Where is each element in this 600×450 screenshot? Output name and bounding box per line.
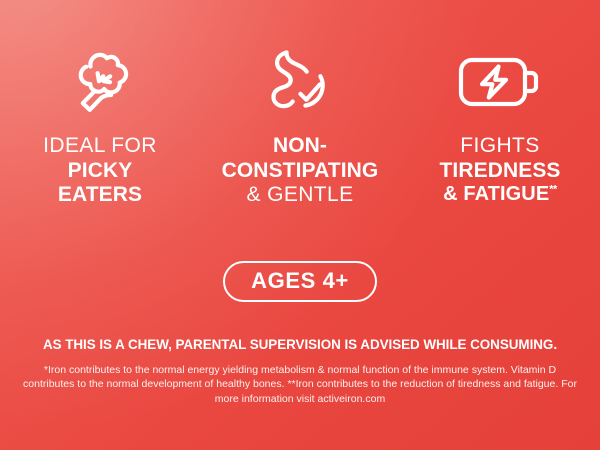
footer: AS THIS IS A CHEW, PARENTAL SUPERVISION …	[0, 336, 600, 407]
promo-banner: IDEAL FOR PICKY EATERS NON- CONSTIPATING…	[0, 0, 600, 450]
benefit-label-line: IDEAL FOR	[43, 134, 157, 159]
benefit-label: IDEAL FOR PICKY EATERS	[43, 134, 157, 208]
benefit-label-line-with-footnote: & FATIGUE**	[439, 183, 560, 206]
broccoli-icon	[68, 44, 132, 120]
battery-bolt-icon	[456, 44, 544, 120]
benefit-non-constipating: NON- CONSTIPATING & GENTLE	[200, 44, 400, 208]
benefit-label-line: TIREDNESS	[439, 159, 560, 184]
benefit-picky-eaters: IDEAL FOR PICKY EATERS	[0, 44, 200, 208]
supervision-notice: AS THIS IS A CHEW, PARENTAL SUPERVISION …	[12, 336, 588, 354]
ages-badge-container: AGES 4+	[0, 261, 600, 302]
benefit-label: FIGHTS TIREDNESS & FATIGUE**	[439, 134, 560, 207]
benefit-fights-tiredness: FIGHTS TIREDNESS & FATIGUE**	[400, 44, 600, 207]
ages-badge: AGES 4+	[223, 261, 377, 302]
benefit-label-line: & FATIGUE	[443, 183, 549, 205]
benefit-label-line: & GENTLE	[222, 183, 379, 208]
benefit-label-line: FIGHTS	[439, 134, 560, 159]
benefit-label-line: NON-	[222, 134, 379, 159]
benefit-label-line: CONSTIPATING	[222, 159, 379, 184]
footnote-marker: **	[549, 183, 557, 195]
benefit-label: NON- CONSTIPATING & GENTLE	[222, 134, 379, 208]
stomach-check-icon	[265, 44, 335, 120]
benefit-label-line: PICKY	[43, 159, 157, 184]
benefit-label-line: EATERS	[43, 183, 157, 208]
benefits-row: IDEAL FOR PICKY EATERS NON- CONSTIPATING…	[0, 44, 600, 208]
legal-fine-print: *Iron contributes to the normal energy y…	[0, 363, 600, 408]
